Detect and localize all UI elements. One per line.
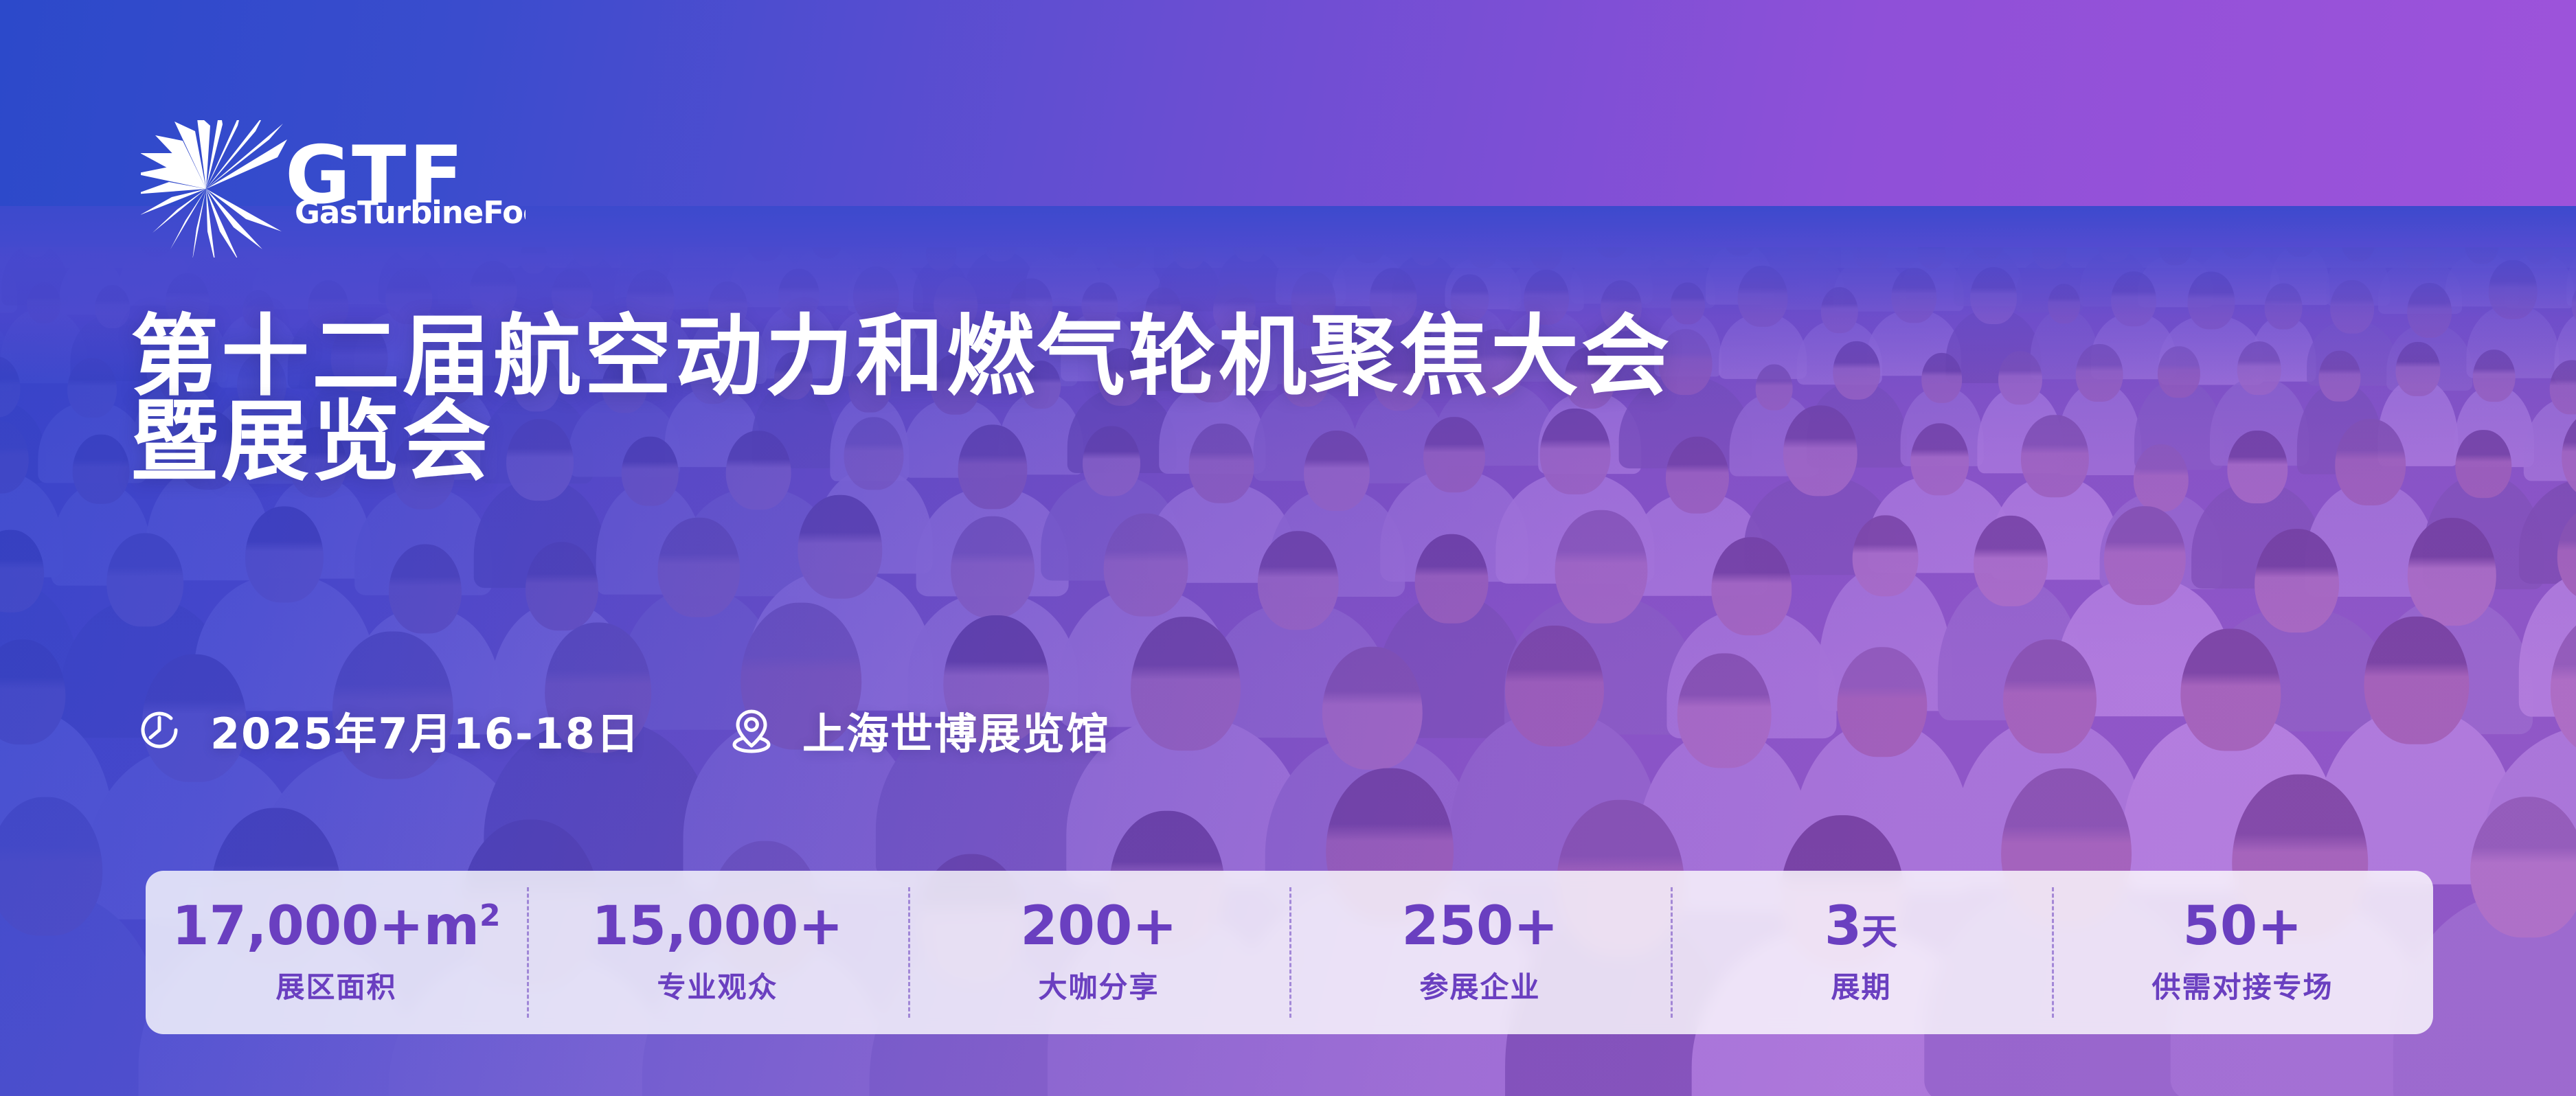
clock-icon [136,707,183,753]
event-meta: 2025年7月16-18日 上海世博展览馆 [136,699,1110,761]
stat-label: 展期 [1831,964,1891,1006]
event-venue: 上海世博展览馆 [728,699,1110,761]
stat-exhibitors: 250+ 参展企业 [1289,871,1671,1034]
stat-value: 200+ [1020,900,1177,953]
stat-label: 供需对接专场 [2151,964,2333,1006]
stat-exhibition-area: 17,000+m2 展区面积 [146,871,527,1034]
event-venue-text: 上海世博展览馆 [802,699,1110,761]
stat-value: 3天 [1824,900,1898,953]
stat-label: 大咖分享 [1038,964,1159,1006]
headline-line-2: 暨展览会 [131,400,1672,485]
stat-professional-visitors: 15,000+ 专业观众 [527,871,908,1034]
event-date-text: 2025年7月16-18日 [210,699,640,761]
stat-label: 展区面积 [275,964,396,1006]
stat-superscript: 2 [479,898,501,933]
stat-label: 参展企业 [1419,964,1540,1006]
stat-speakers: 200+ 大咖分享 [908,871,1289,1034]
stat-value: 17,000+m2 [172,900,500,953]
stat-value: 250+ [1401,900,1558,953]
event-banner: GTF GasTurbineFocus 第十二届航空动力和燃气轮机聚焦大会 暨展… [0,0,2576,1096]
stat-label: 专业观众 [657,964,778,1006]
stats-bar: 17,000+m2 展区面积 15,000+ 专业观众 200+ 大咖分享 25… [146,871,2433,1034]
turbine-fan-icon [141,120,287,258]
map-pin-icon [728,707,775,753]
event-date: 2025年7月16-18日 [136,699,640,761]
stat-value: 15,000+ [591,900,843,953]
logo-wordmark: GasTurbineFocus [295,194,526,231]
stat-value: 50+ [2183,900,2303,953]
stat-matchmaking-sessions: 50+ 供需对接专场 [2052,871,2433,1034]
gtf-logo[interactable]: GTF GasTurbineFocus [141,120,526,258]
stat-duration: 3天 展期 [1671,871,2052,1034]
stat-unit: 天 [1862,912,1898,953]
page-title: 第十二届航空动力和燃气轮机聚焦大会 暨展览会 [131,315,1672,485]
